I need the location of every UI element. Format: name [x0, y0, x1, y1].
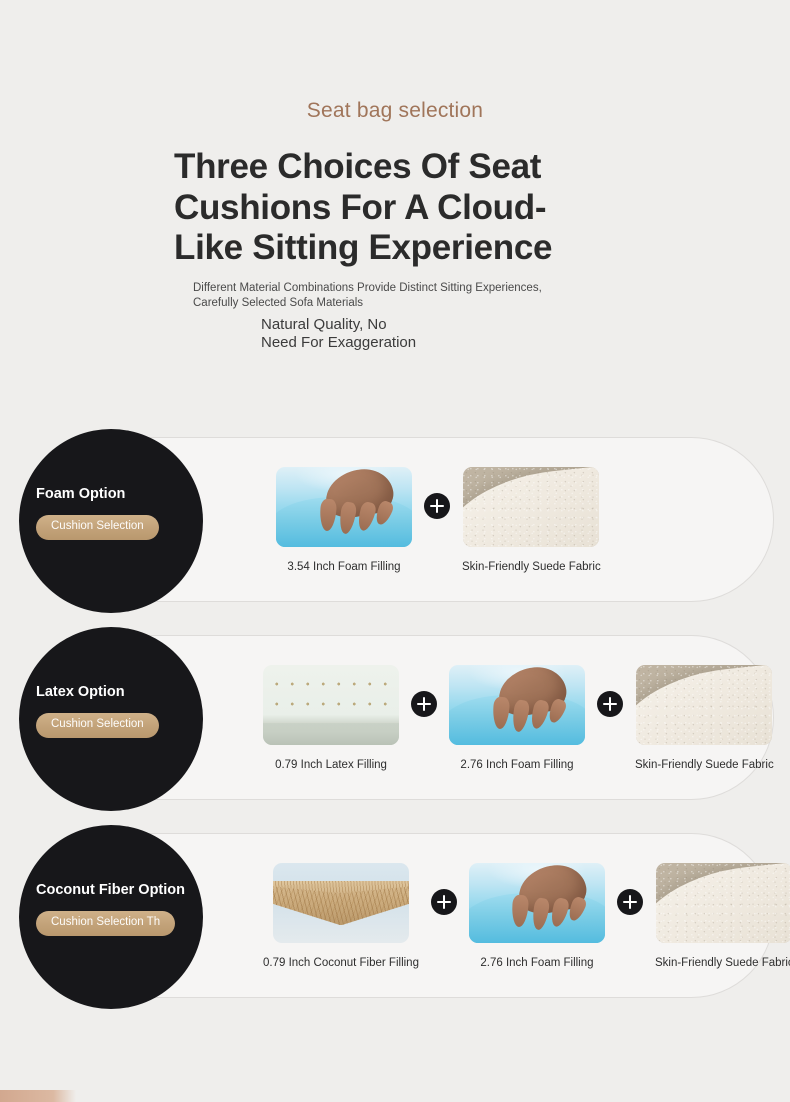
material-layer[interactable]: 0.79 Inch Latex Filling	[263, 665, 399, 772]
material-layer[interactable]: 2.76 Inch Foam Filling	[449, 665, 585, 772]
material-layer[interactable]: 3.54 Inch Foam Filling	[276, 467, 412, 574]
material-caption: Skin-Friendly Suede Fabric	[655, 958, 790, 970]
layer-row: 0.79 Inch Latex Filling 2.76 Inch Foam F…	[217, 636, 759, 801]
layer-row: 0.79 Inch Coconut Fiber Filling 2.76 Inc…	[217, 834, 759, 999]
material-layer[interactable]: Skin-Friendly Suede Fabric	[462, 467, 601, 574]
cushion-selection-badge[interactable]: Cushion Selection	[36, 713, 159, 738]
cushion-selection-badge[interactable]: Cushion Selection Th	[36, 911, 175, 936]
material-thumbnail-foam	[276, 467, 412, 547]
option-title: Latex Option	[36, 685, 203, 700]
material-thumbnail-latex	[263, 665, 399, 745]
material-layer[interactable]: Skin-Friendly Suede Fabric	[635, 665, 774, 772]
option-circle-badge-latex: Latex Option Cushion Selection	[19, 627, 203, 811]
material-thumbnail-coconut-fiber	[273, 863, 409, 943]
material-layer[interactable]: 2.76 Inch Foam Filling	[469, 863, 605, 970]
plus-icon	[424, 493, 450, 519]
material-caption: 0.79 Inch Latex Filling	[275, 760, 387, 772]
material-caption: 0.79 Inch Coconut Fiber Filling	[263, 958, 419, 970]
option-title: Coconut Fiber Option	[36, 883, 203, 898]
subtitle-block: Different Material Combinations Provide …	[0, 281, 790, 353]
material-thumbnail-suede	[656, 863, 790, 943]
material-thumbnail-suede	[636, 665, 772, 745]
plus-icon	[597, 691, 623, 717]
material-layer[interactable]: 0.79 Inch Coconut Fiber Filling	[263, 863, 419, 970]
material-thumbnail-suede	[463, 467, 599, 547]
title-block: Three Choices Of Seat Cushions For A Clo…	[0, 147, 790, 269]
plus-icon	[617, 889, 643, 915]
page-title: Three Choices Of Seat Cushions For A Clo…	[174, 147, 574, 269]
section-eyebrow: Seat bag selection	[0, 100, 790, 121]
cushion-option-card-foam[interactable]: Foam Option Cushion Selection 3.54 Inch …	[56, 437, 774, 602]
material-caption: 2.76 Inch Foam Filling	[460, 760, 573, 772]
material-layer[interactable]: Skin-Friendly Suede Fabric	[655, 863, 790, 970]
material-caption: Skin-Friendly Suede Fabric	[462, 562, 601, 574]
subtitle-secondary: Different Material Combinations Provide …	[193, 281, 573, 311]
cushion-option-card-latex[interactable]: Latex Option Cushion Selection 0.79 Inch…	[56, 635, 774, 800]
plus-icon	[431, 889, 457, 915]
material-thumbnail-foam	[449, 665, 585, 745]
material-caption: 2.76 Inch Foam Filling	[480, 958, 593, 970]
page-header: Seat bag selection Three Choices Of Seat…	[0, 0, 790, 353]
next-section-peek	[0, 1090, 76, 1102]
material-caption: 3.54 Inch Foam Filling	[287, 562, 400, 574]
cushion-selection-badge[interactable]: Cushion Selection	[36, 515, 159, 540]
layer-row: 3.54 Inch Foam Filling Skin-Friendly Sue…	[217, 438, 759, 603]
cushion-option-card-coconut-fiber[interactable]: Coconut Fiber Option Cushion Selection T…	[56, 833, 774, 998]
material-caption: Skin-Friendly Suede Fabric	[635, 760, 774, 772]
option-circle-badge-foam: Foam Option Cushion Selection	[19, 429, 203, 613]
option-circle-badge-coconut-fiber: Coconut Fiber Option Cushion Selection T…	[19, 825, 203, 1009]
material-thumbnail-foam	[469, 863, 605, 943]
cushion-options-list: Foam Option Cushion Selection 3.54 Inch …	[0, 437, 790, 998]
option-title: Foam Option	[36, 487, 203, 502]
plus-icon	[411, 691, 437, 717]
subtitle-primary: Natural Quality, No Need For Exaggeratio…	[193, 316, 423, 353]
